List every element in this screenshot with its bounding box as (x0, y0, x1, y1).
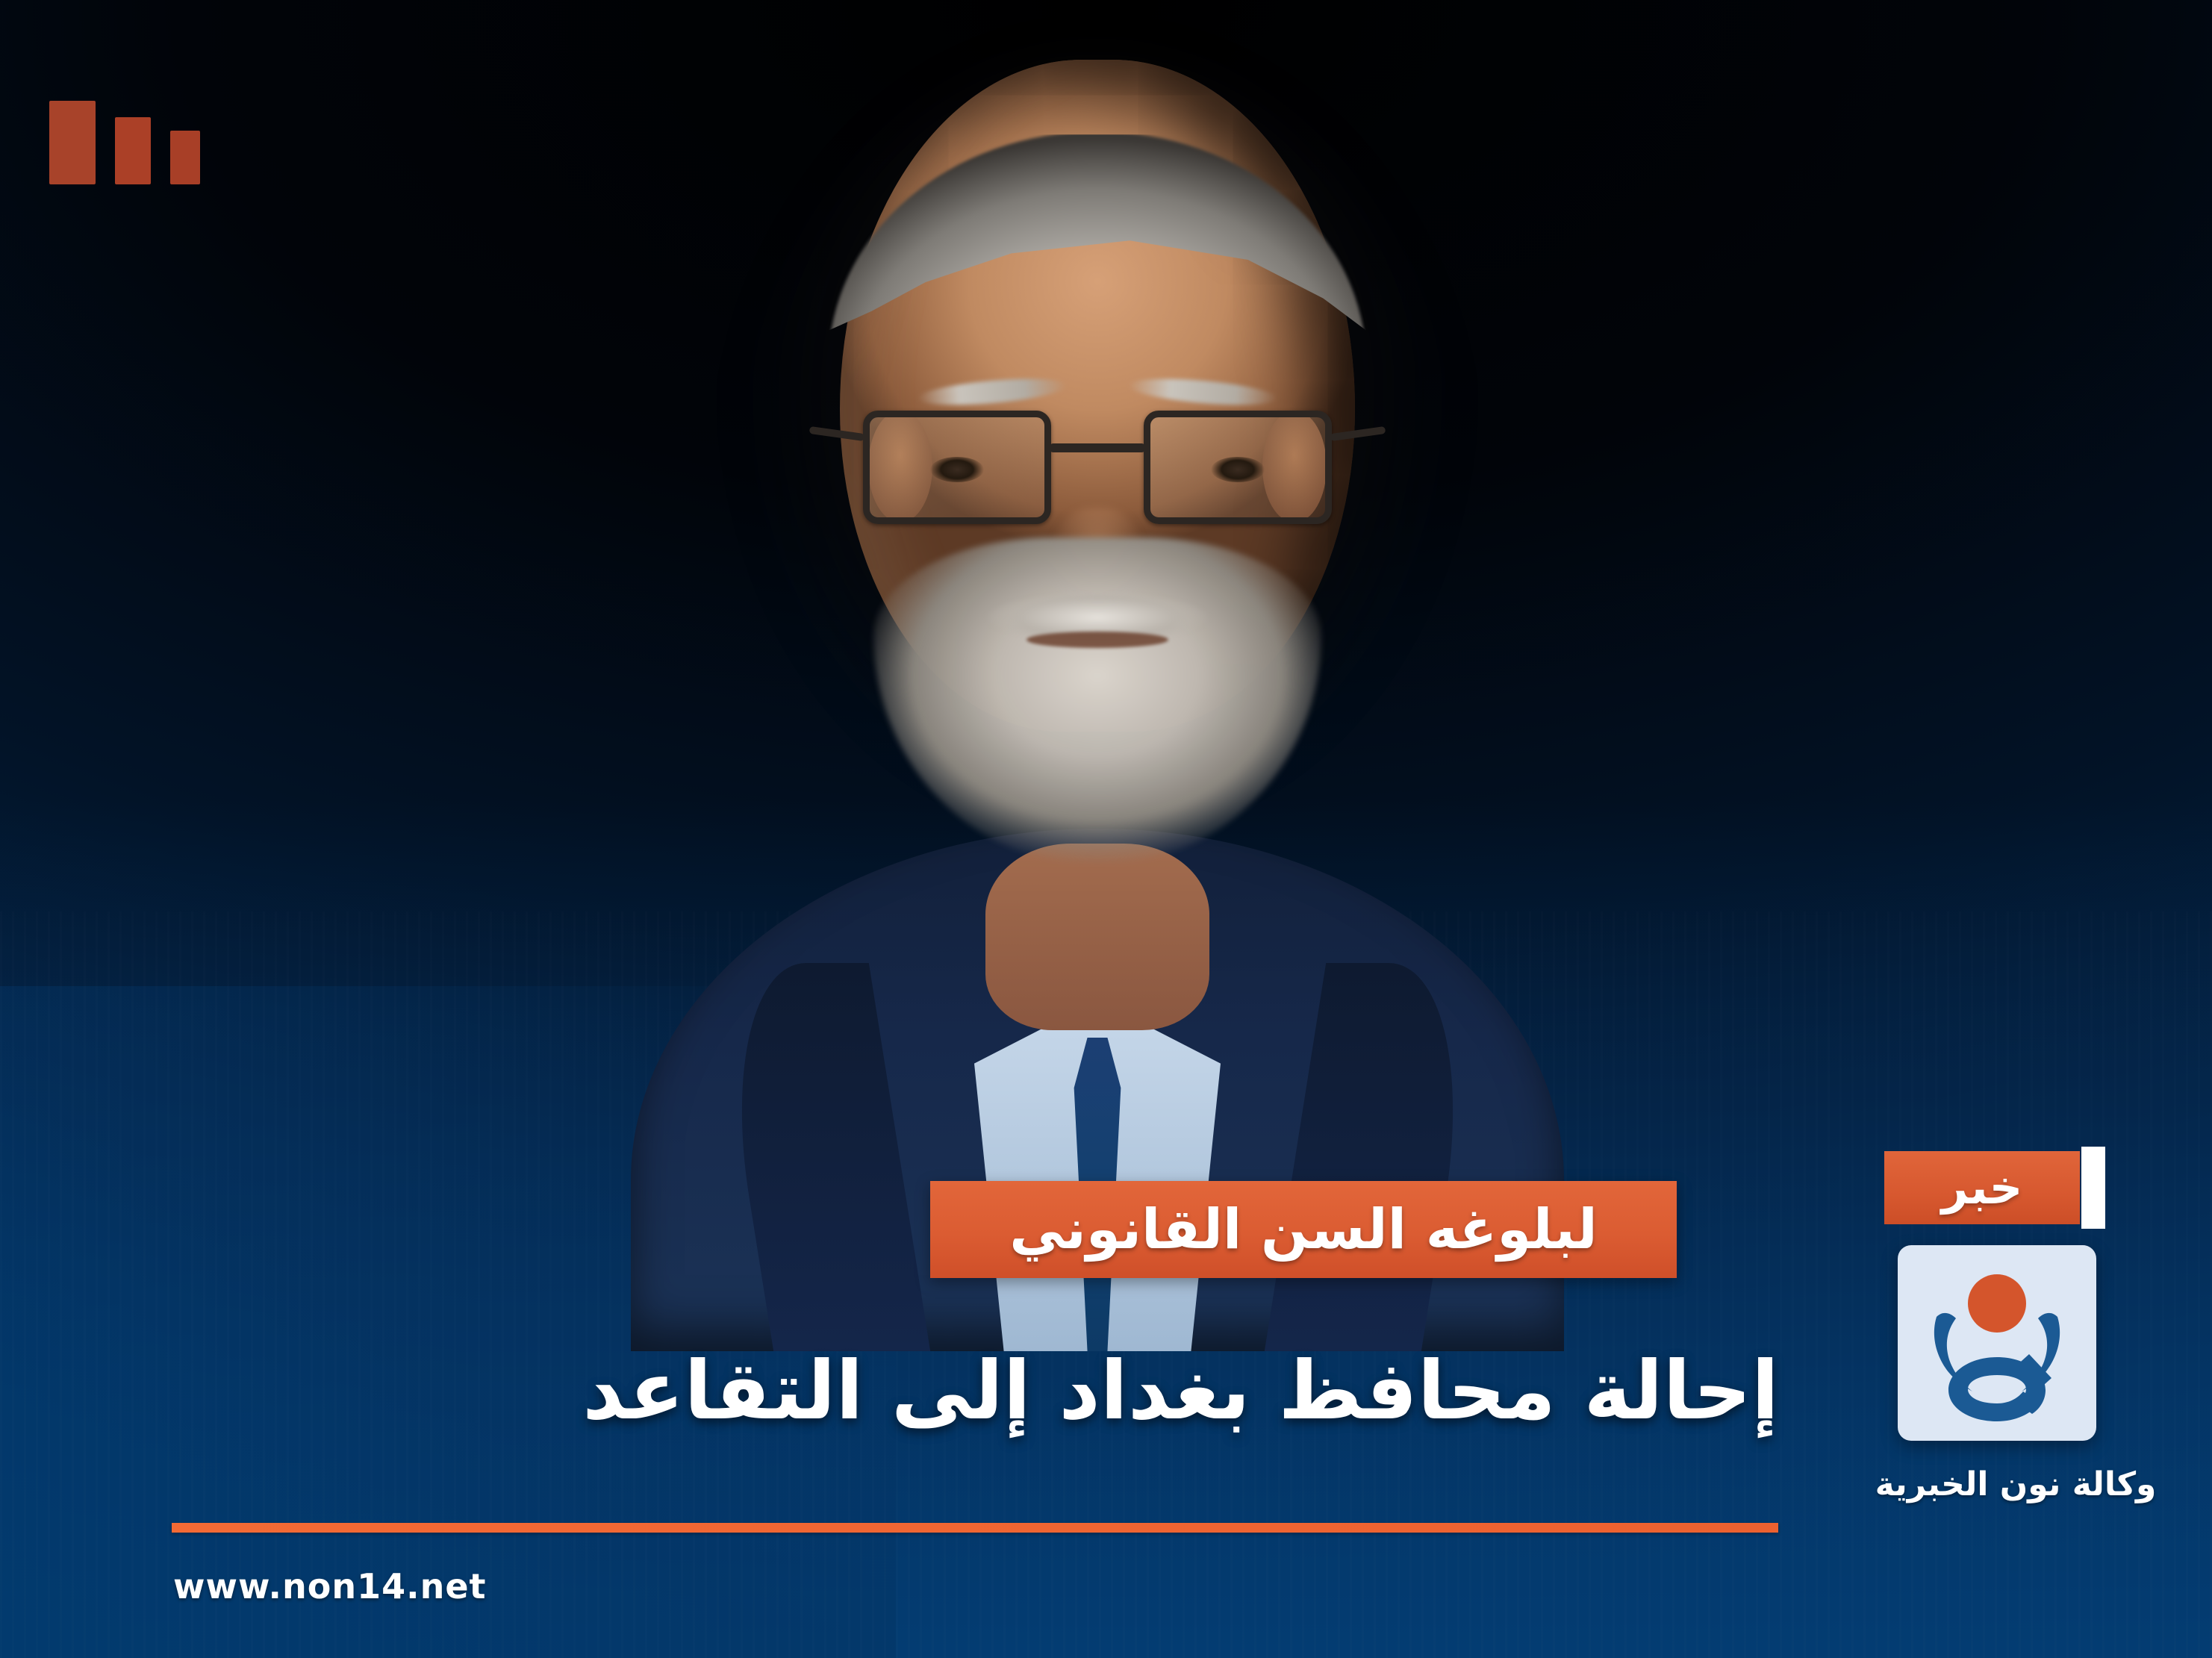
portrait-head (840, 60, 1355, 732)
portrait-mouth (1026, 632, 1168, 648)
three-bar-mark (49, 101, 200, 184)
bar-mark-segment-2 (115, 117, 151, 184)
agency-logo (1898, 1245, 2096, 1441)
portrait-photo (657, 0, 1538, 1351)
news-card: لبلوغه السن القانوني إحالة محافظ بغداد إ… (0, 0, 2212, 1658)
agency-name: وكالة نون الخبرية (1840, 1465, 2191, 1503)
portrait-eye-left (930, 457, 984, 482)
orange-divider (172, 1523, 1778, 1533)
status-badge: خبر (1884, 1151, 2080, 1224)
bar-mark-segment-1 (49, 101, 96, 184)
kicker-text: لبلوغه السن القانوني (1009, 1202, 1598, 1257)
portrait-glasses (859, 397, 1336, 539)
kicker-chip: لبلوغه السن القانوني (930, 1181, 1677, 1278)
page-title: إحالة محافظ بغداد إلى التقاعد (137, 1344, 1779, 1439)
noon-agency-logo-icon (1898, 1245, 2096, 1441)
bar-mark-segment-3 (170, 131, 200, 184)
portrait-eye-right (1211, 457, 1265, 482)
status-badge-label: خبر (1942, 1165, 2023, 1211)
status-badge-tab (2081, 1147, 2105, 1229)
glasses-bridge (1049, 443, 1146, 452)
portrait-neck (985, 844, 1209, 1030)
website-url[interactable]: www.non14.net (173, 1566, 487, 1606)
